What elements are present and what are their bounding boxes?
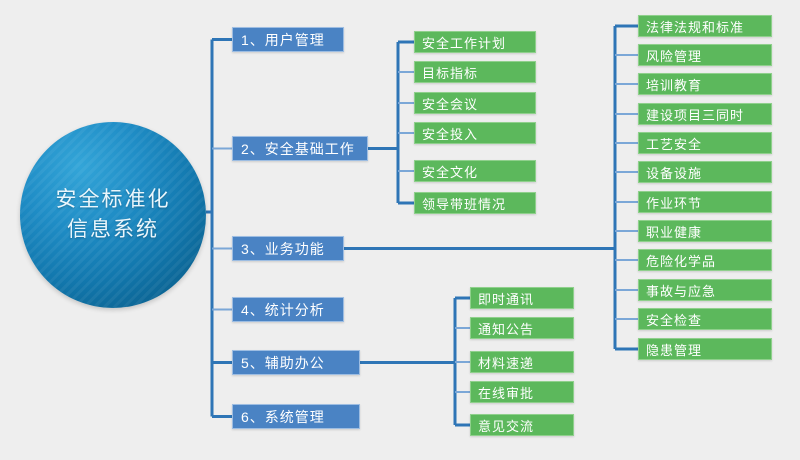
node-label: 4、统计分析 [241,300,325,320]
node-label: 6、系统管理 [241,407,325,427]
node-label: 安全工作计划 [422,33,506,52]
office-node-2[interactable]: 通知公告 [470,317,574,339]
business-node-10[interactable]: 事故与应急 [638,279,772,301]
level2-node-6[interactable]: 6、系统管理 [232,404,360,429]
office-node-4[interactable]: 在线审批 [470,381,574,403]
business-node-6[interactable]: 设备设施 [638,161,772,183]
node-label: 安全会议 [422,94,478,113]
node-label: 设备设施 [646,163,702,182]
node-label: 意见交流 [478,416,534,435]
business-node-2[interactable]: 风险管理 [638,44,772,66]
safety-basic-node-5[interactable]: 安全文化 [414,160,536,182]
node-label: 法律法规和标准 [646,17,744,36]
office-node-3[interactable]: 材料速递 [470,351,574,373]
business-node-4[interactable]: 建设项目三同时 [638,103,772,125]
node-label: 职业健康 [646,222,702,241]
node-label: 隐患管理 [646,340,702,359]
business-node-12[interactable]: 隐患管理 [638,338,772,360]
office-node-1[interactable]: 即时通讯 [470,287,574,309]
office-node-5[interactable]: 意见交流 [470,414,574,436]
node-label: 即时通讯 [478,289,534,308]
hub-label-line2: 信息系统 [67,215,159,245]
hub-label: 安全标准化 信息系统 [20,122,206,308]
business-node-7[interactable]: 作业环节 [638,191,772,213]
level2-node-1[interactable]: 1、用户管理 [232,27,344,52]
node-label: 风险管理 [646,46,702,65]
mindmap-canvas: 安全标准化 信息系统 1、用户管理2、安全基础工作3、业务功能4、统计分析5、辅… [0,0,800,460]
node-label: 建设项目三同时 [646,105,744,124]
level2-node-3[interactable]: 3、业务功能 [232,236,344,261]
business-node-5[interactable]: 工艺安全 [638,132,772,154]
level2-node-2[interactable]: 2、安全基础工作 [232,136,368,161]
node-label: 危险化学品 [646,251,716,270]
safety-basic-node-3[interactable]: 安全会议 [414,92,536,114]
node-label: 作业环节 [646,193,702,212]
safety-basic-node-4[interactable]: 安全投入 [414,122,536,144]
business-node-11[interactable]: 安全检查 [638,308,772,330]
node-label: 安全文化 [422,162,478,181]
node-label: 安全投入 [422,124,478,143]
safety-basic-node-2[interactable]: 目标指标 [414,61,536,83]
node-label: 通知公告 [478,319,534,338]
node-label: 目标指标 [422,63,478,82]
level2-node-4[interactable]: 4、统计分析 [232,297,344,322]
node-label: 5、辅助办公 [241,353,325,373]
node-label: 领导带班情况 [422,194,506,213]
business-node-3[interactable]: 培训教育 [638,73,772,95]
business-node-9[interactable]: 危险化学品 [638,249,772,271]
node-label: 3、业务功能 [241,239,325,259]
hub-circle[interactable]: 安全标准化 信息系统 [20,122,206,308]
node-label: 2、安全基础工作 [241,139,355,159]
node-label: 安全检查 [646,310,702,329]
node-label: 事故与应急 [646,281,716,300]
node-label: 材料速递 [478,353,534,372]
node-label: 工艺安全 [646,134,702,153]
safety-basic-node-1[interactable]: 安全工作计划 [414,31,536,53]
node-label: 培训教育 [646,75,702,94]
node-label: 1、用户管理 [241,30,325,50]
level2-node-5[interactable]: 5、辅助办公 [232,350,360,375]
business-node-8[interactable]: 职业健康 [638,220,772,242]
business-node-1[interactable]: 法律法规和标准 [638,15,772,37]
hub-label-line1: 安全标准化 [56,185,171,215]
safety-basic-node-6[interactable]: 领导带班情况 [414,192,536,214]
node-label: 在线审批 [478,383,534,402]
